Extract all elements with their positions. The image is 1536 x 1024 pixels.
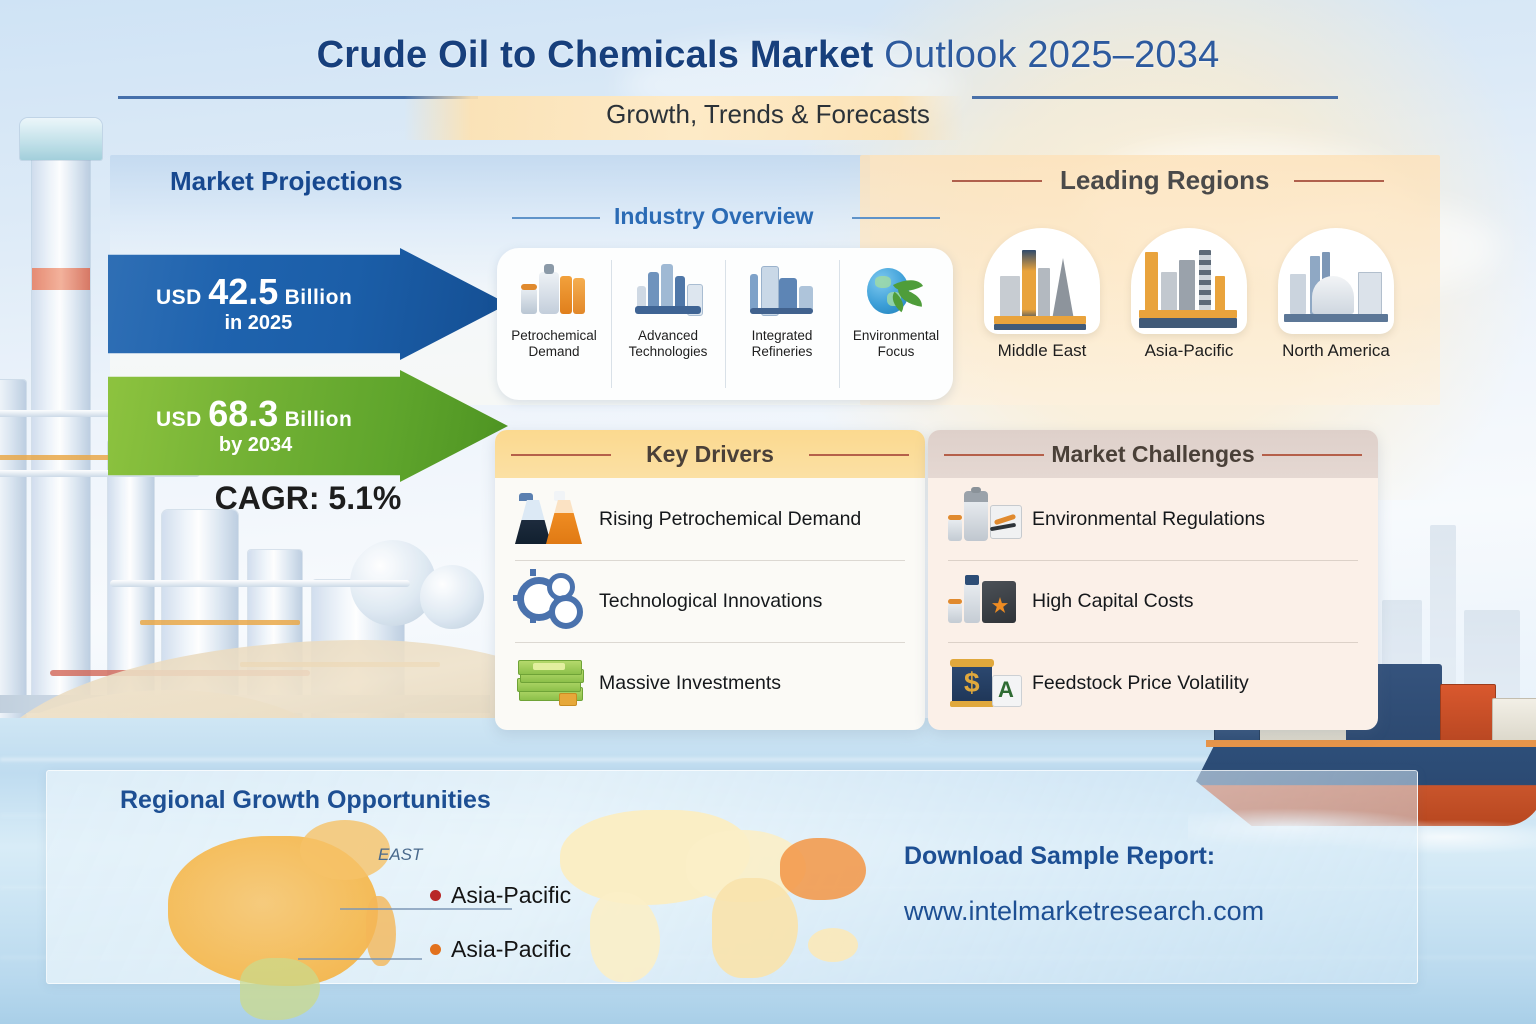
legend-dot-icon: [430, 944, 441, 955]
key-drivers-header: Key Drivers: [495, 430, 925, 478]
arrow-unit: Billion: [285, 408, 353, 431]
arrow-currency: USD: [156, 408, 202, 431]
region-label: North America: [1278, 341, 1394, 361]
infographic-canvas: Crude Oil to Chemicals Market Outlook 20…: [0, 0, 1536, 1024]
legend-item: Asia-Pacific: [430, 922, 660, 976]
header-rule-right: [1262, 454, 1362, 456]
key-driver-row: Technological Innovations: [499, 560, 921, 642]
industry-item-advanced-technologies: Advanced Technologies: [611, 248, 725, 400]
chemical-bottle-document-icon: [946, 487, 1024, 551]
arrow-period: in 2025: [156, 313, 352, 333]
region-middle-east: Middle East: [984, 228, 1100, 361]
regions-rule-right: [1294, 180, 1384, 182]
regions-rule-left: [952, 180, 1042, 182]
page-subtitle: Growth, Trends & Forecasts: [0, 99, 1536, 130]
key-driver-label: Technological Innovations: [599, 590, 822, 613]
region-north-america: North America: [1278, 228, 1394, 361]
arrow-unit: Billion: [285, 286, 353, 309]
cagr-value: CAGR: 5.1%: [108, 480, 508, 517]
cash-stack-icon: [513, 651, 591, 715]
industry-rule-left: [512, 217, 600, 219]
region-asia-pacific: Asia-Pacific: [1131, 228, 1247, 361]
region-label: Asia-Pacific: [1131, 341, 1247, 361]
gears-icon: [513, 569, 591, 633]
challenge-row: Environmental Regulations: [932, 478, 1374, 560]
storage-tank-plant-icon: [1278, 228, 1394, 334]
download-heading: Download Sample Report:: [904, 842, 1215, 871]
legend-label: Asia-Pacific: [451, 936, 571, 963]
page-title-light: Outlook 2025–2034: [874, 34, 1220, 76]
industry-item-label: Advanced Technologies: [611, 328, 725, 360]
market-challenges-header: Market Challenges: [928, 430, 1378, 478]
download-url[interactable]: www.intelmarketresearch.com: [904, 896, 1264, 927]
fuel-containers-icon: [946, 569, 1024, 633]
dollar-barrel-icon: $ A: [946, 651, 1024, 715]
header-rule-left: [944, 454, 1044, 456]
page-title: Crude Oil to Chemicals Market Outlook 20…: [0, 34, 1536, 77]
globe-leaf-icon: [861, 262, 931, 324]
refinery-tower-icon: [984, 228, 1100, 334]
arrow-period: by 2034: [156, 435, 352, 455]
key-driver-label: Rising Petrochemical Demand: [599, 508, 861, 531]
key-driver-row: Massive Investments: [499, 642, 921, 724]
key-drivers-title: Key Drivers: [646, 441, 774, 468]
map-east-label: EAST: [378, 845, 422, 865]
regional-growth-heading: Regional Growth Opportunities: [120, 786, 491, 815]
legend-label: Asia-Pacific: [451, 882, 571, 909]
market-challenges-title: Market Challenges: [1051, 441, 1254, 468]
header-rule-left: [511, 454, 611, 456]
challenge-row: High Capital Costs: [932, 560, 1374, 642]
key-driver-label: Massive Investments: [599, 672, 781, 695]
region-label: Middle East: [984, 341, 1100, 361]
industry-rule-right: [852, 217, 940, 219]
legend-dot-icon: [430, 890, 441, 901]
key-driver-row: Rising Petrochemical Demand: [499, 478, 921, 560]
industry-item-label: Petrochemical Demand: [497, 328, 611, 360]
legend-rule-bottom: [298, 958, 422, 960]
chemical-containers-icon: [519, 262, 589, 324]
industrial-unit-icon: [747, 262, 817, 324]
market-challenges-panel: Market Challenges Environmental Regulati…: [928, 430, 1378, 730]
industry-item-label: Integrated Refineries: [725, 328, 839, 360]
challenge-label: Environmental Regulations: [1032, 508, 1265, 531]
arrow-value: 68.3: [208, 393, 278, 434]
industry-item-petrochemical-demand: Petrochemical Demand: [497, 248, 611, 400]
regional-legend: Asia-Pacific Asia-Pacific: [430, 868, 660, 976]
industry-item-integrated-refineries: Integrated Refineries: [725, 248, 839, 400]
petrochemical-complex-icon: [1131, 228, 1247, 334]
industry-item-label: Environmental Focus: [839, 328, 953, 360]
arrow-value: 42.5: [208, 271, 278, 312]
challenge-row: $ A Feedstock Price Volatility: [932, 642, 1374, 724]
industry-overview-card: Petrochemical Demand Advanced Technologi…: [497, 248, 953, 400]
key-drivers-panel: Key Drivers Rising Petrochemical Demand: [495, 430, 925, 730]
header-rule-right: [809, 454, 909, 456]
industry-overview-heading: Industry Overview: [614, 203, 813, 230]
challenge-label: Feedstock Price Volatility: [1032, 672, 1249, 695]
page-title-bold: Crude Oil to Chemicals Market: [317, 34, 874, 76]
refinery-plant-icon: [633, 262, 703, 324]
market-projections-heading: Market Projections: [170, 166, 403, 197]
legend-item: Asia-Pacific: [430, 868, 660, 922]
challenge-label: High Capital Costs: [1032, 590, 1193, 613]
arrow-currency: USD: [156, 286, 202, 309]
flasks-icon: [513, 487, 591, 551]
industry-item-environmental-focus: Environmental Focus: [839, 248, 953, 400]
leading-regions-heading: Leading Regions: [1060, 165, 1269, 196]
